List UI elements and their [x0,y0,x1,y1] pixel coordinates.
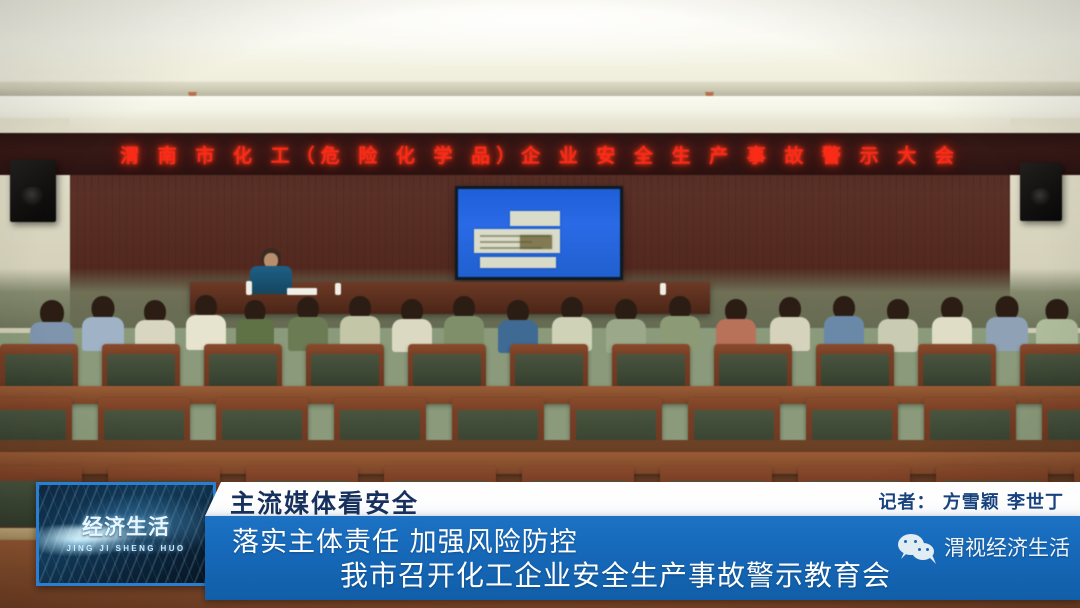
seat-cushion [107,354,174,386]
seat-cushion [5,354,72,386]
projected-slide [458,189,620,277]
speaker-cone [20,187,45,206]
slide-text-line [480,235,550,237]
auditorium-seat [816,344,894,390]
auditorium-seat [0,344,78,390]
attendee [986,296,1028,350]
slide-text-line [480,247,542,249]
attendee [340,296,380,350]
seat-cushion [923,354,990,386]
projector-screen [455,186,623,280]
loudspeaker-icon [10,160,56,222]
auditorium-seat [306,344,384,390]
wechat-account-name: 渭视经济生活 [944,532,1070,562]
water-bottle-icon [246,281,252,295]
attendee [932,297,972,350]
wechat-icon [898,534,938,560]
attendee [82,296,124,350]
auditorium-seat [510,344,588,390]
seat-cushion [1025,354,1080,386]
auditorium-seat [102,344,180,390]
venue-banner-text: 渭 南 市 化 工（危 险 化 学 品）企 业 安 全 生 产 事 故 警 示 … [120,141,960,168]
station-logo-box: 经济生活 JING JI SHENG HUO [36,482,216,586]
seat-cushion [413,354,480,386]
lower-third-graphic: 经济生活 JING JI SHENG HUO 主流媒体看安全 记者： 方雪颖 李… [0,480,1080,608]
venue-banner: 渭 南 市 化 工（危 险 化 学 品）企 业 安 全 生 产 事 故 警 示 … [0,133,1080,175]
auditorium-seat [1020,344,1080,390]
auditorium-seat [408,344,486,390]
wechat-watermark: 渭视经济生活 [898,532,1070,562]
seat-cushion [617,354,684,386]
attendee [660,296,700,350]
water-bottle-icon [660,283,666,295]
attendee [186,295,226,349]
attendee [552,297,592,350]
table-document [287,288,317,295]
slide-text-line [480,241,532,243]
attendee [770,297,810,350]
broadcast-frame: 渭 南 市 化 工（危 险 化 学 品）企 业 安 全 生 产 事 故 警 示 … [0,0,1080,608]
seat-cushion [821,354,888,386]
slide-element [480,257,556,268]
seat-cushion [515,354,582,386]
station-logo-name: 经济生活 [82,511,170,541]
attendee [288,297,328,350]
speaker-cone [1029,188,1052,205]
attendee [444,296,484,350]
ceiling-beam [0,82,1080,96]
auditorium-seat [714,344,792,390]
reporter-credit: 记者： 方雪颖 李世丁 [878,488,1064,514]
auditorium-seat [918,344,996,390]
seat-cushion [209,354,276,386]
program-title: 主流媒体看安全 [230,484,419,520]
station-logo-pinyin: JING JI SHENG HUO [66,544,185,553]
seat-cushion [719,354,786,386]
seat-cushion [311,354,378,386]
water-bottle-icon [335,283,341,295]
slide-element [510,211,560,226]
presenter-body [250,266,292,294]
auditorium-seat [204,344,282,390]
auditorium-seat [612,344,690,390]
loudspeaker-icon [1020,163,1062,221]
attendee [824,296,864,350]
headline-line-2: 我市召开化工企业安全生产事故警示教育会 [340,554,891,594]
presenter [250,248,292,292]
